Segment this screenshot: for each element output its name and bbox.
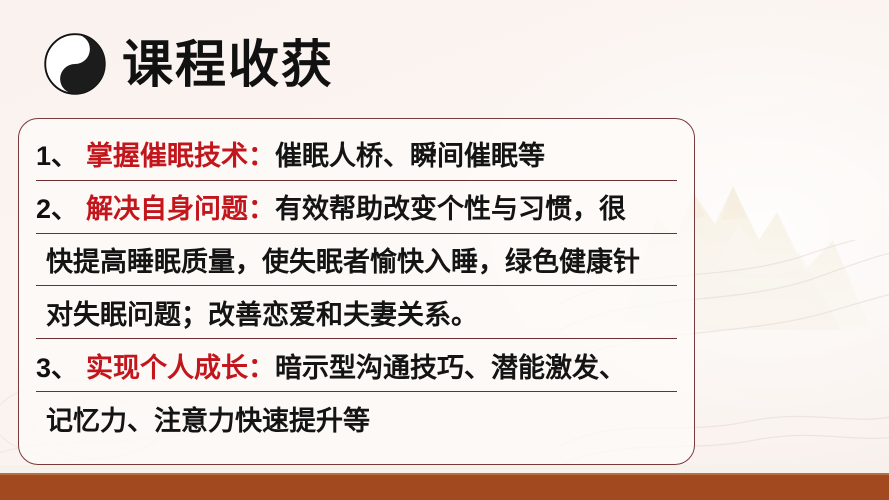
benefits-line: 记忆力、注意力快速提升等 (36, 392, 677, 445)
bottom-accent-bar-highlight (0, 473, 889, 475)
page-title: 课程收获 (122, 39, 334, 90)
benefits-card: 1、 掌握催眠技术： 催眠人桥、瞬间催眠等 2、 解决自身问题： 有效帮助改变个… (18, 118, 695, 465)
slide-header: 课程收获 (44, 28, 334, 100)
item-number: 3、 (36, 346, 78, 385)
item-body: 记忆力、注意力快速提升等 (44, 399, 370, 438)
item-body: 快提高睡眠质量，使失眠者愉快入睡，绿色健康针 (44, 240, 640, 279)
benefits-line: 1、 掌握催眠技术： 催眠人桥、瞬间催眠等 (36, 128, 677, 181)
benefits-line-list: 1、 掌握催眠技术： 催眠人桥、瞬间催眠等 2、 解决自身问题： 有效帮助改变个… (36, 128, 677, 455)
taiji-yinyang-icon (44, 33, 106, 95)
item-body: 对失眠问题；改善恋爱和夫妻关系。 (44, 293, 478, 332)
item-body: 有效帮助改变个性与习惯，很 (275, 187, 626, 226)
item-highlight: 解决自身问题： (86, 187, 275, 226)
item-body: 催眠人桥、瞬间催眠等 (275, 134, 545, 173)
item-body: 暗示型沟通技巧、潜能激发、 (275, 346, 626, 385)
item-highlight: 掌握催眠技术： (86, 134, 275, 173)
slide-canvas: 课程收获 1、 掌握催眠技术： 催眠人桥、瞬间催眠等 2、 解决自身问题： 有效… (0, 0, 889, 500)
item-highlight: 实现个人成长： (86, 346, 275, 385)
benefits-line: 快提高睡眠质量，使失眠者愉快入睡，绿色健康针 (36, 234, 677, 287)
bottom-light-strip (0, 465, 889, 473)
bottom-accent-bar (0, 473, 889, 500)
item-number: 1、 (36, 134, 78, 173)
benefits-line: 对失眠问题；改善恋爱和夫妻关系。 (36, 286, 677, 339)
benefits-line: 2、 解决自身问题： 有效帮助改变个性与习惯，很 (36, 181, 677, 234)
item-number: 2、 (36, 187, 78, 226)
benefits-line: 3、 实现个人成长： 暗示型沟通技巧、潜能激发、 (36, 339, 677, 392)
